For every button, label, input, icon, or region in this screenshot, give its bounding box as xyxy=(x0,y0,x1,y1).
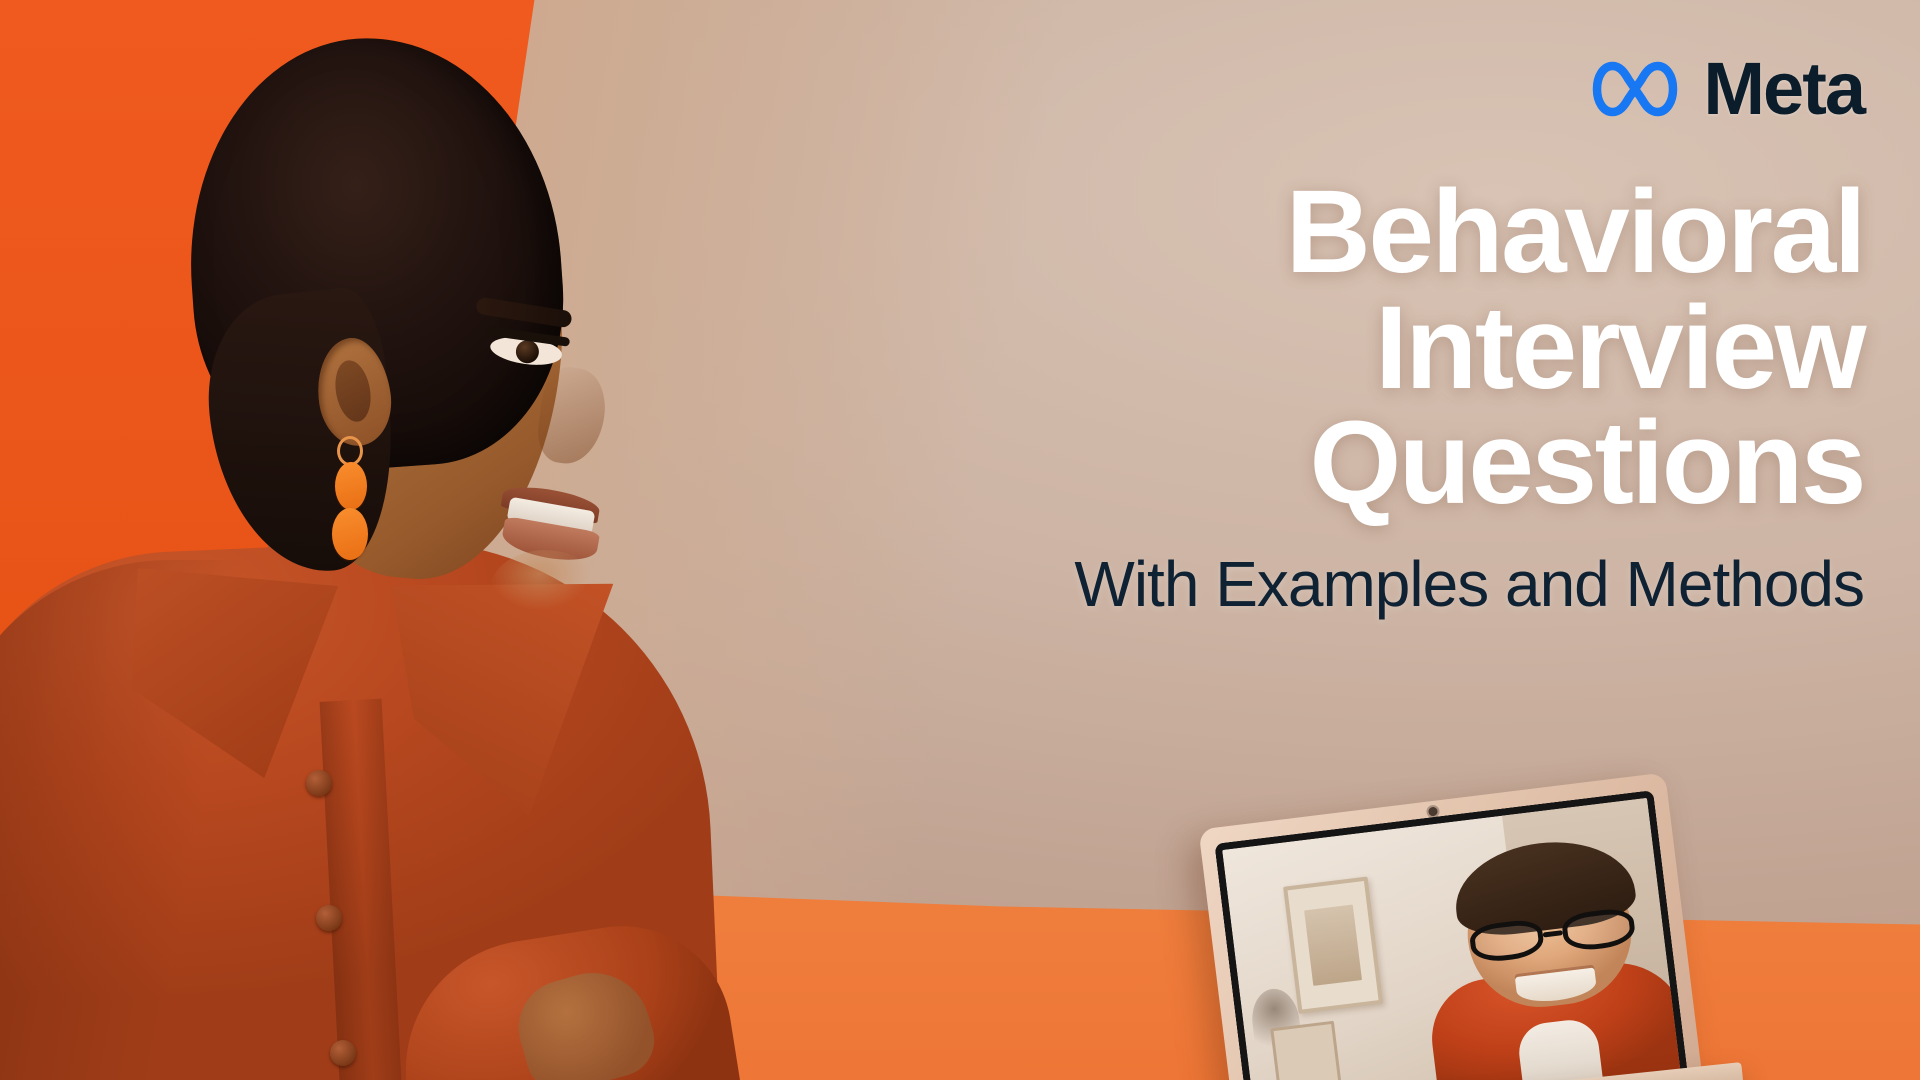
page-subtitle: With Examples and Methods xyxy=(864,552,1864,616)
meta-logo: Meta xyxy=(1587,52,1864,126)
subject-shirt-button xyxy=(316,905,342,931)
subject-head xyxy=(150,38,550,598)
call-wall-picture-frame-secondary xyxy=(1270,1021,1345,1080)
copy-block: Behavioral Interview Questions With Exam… xyxy=(864,175,1864,616)
headline-line-3: Questions xyxy=(864,406,1864,522)
page-title: Behavioral Interview Questions xyxy=(864,175,1864,522)
meta-behavioral-interview-banner: Meta Behavioral Interview Questions With… xyxy=(0,0,1920,1080)
webcam-icon xyxy=(1428,807,1438,817)
call-wall-picture-frame xyxy=(1283,877,1383,1014)
subject-pupil xyxy=(514,339,540,365)
call-picture-frame-inner xyxy=(1304,904,1363,986)
video-call-feed xyxy=(1222,798,1681,1080)
glasses-bridge xyxy=(1542,930,1562,937)
laptop-screen xyxy=(1214,790,1687,1080)
subject-shirt-button xyxy=(306,770,332,796)
call-participant xyxy=(1403,818,1687,1080)
meta-infinity-icon xyxy=(1587,58,1683,120)
subject-chin xyxy=(490,550,600,630)
subject-shirt-button xyxy=(330,1040,356,1066)
earring-drop-upper xyxy=(335,462,367,510)
headline-line-2: Interview xyxy=(864,291,1864,407)
subject-portrait xyxy=(0,0,680,1080)
headline-line-1: Behavioral xyxy=(864,175,1864,291)
meta-wordmark: Meta xyxy=(1703,52,1864,126)
earring-drop-lower xyxy=(332,508,368,560)
